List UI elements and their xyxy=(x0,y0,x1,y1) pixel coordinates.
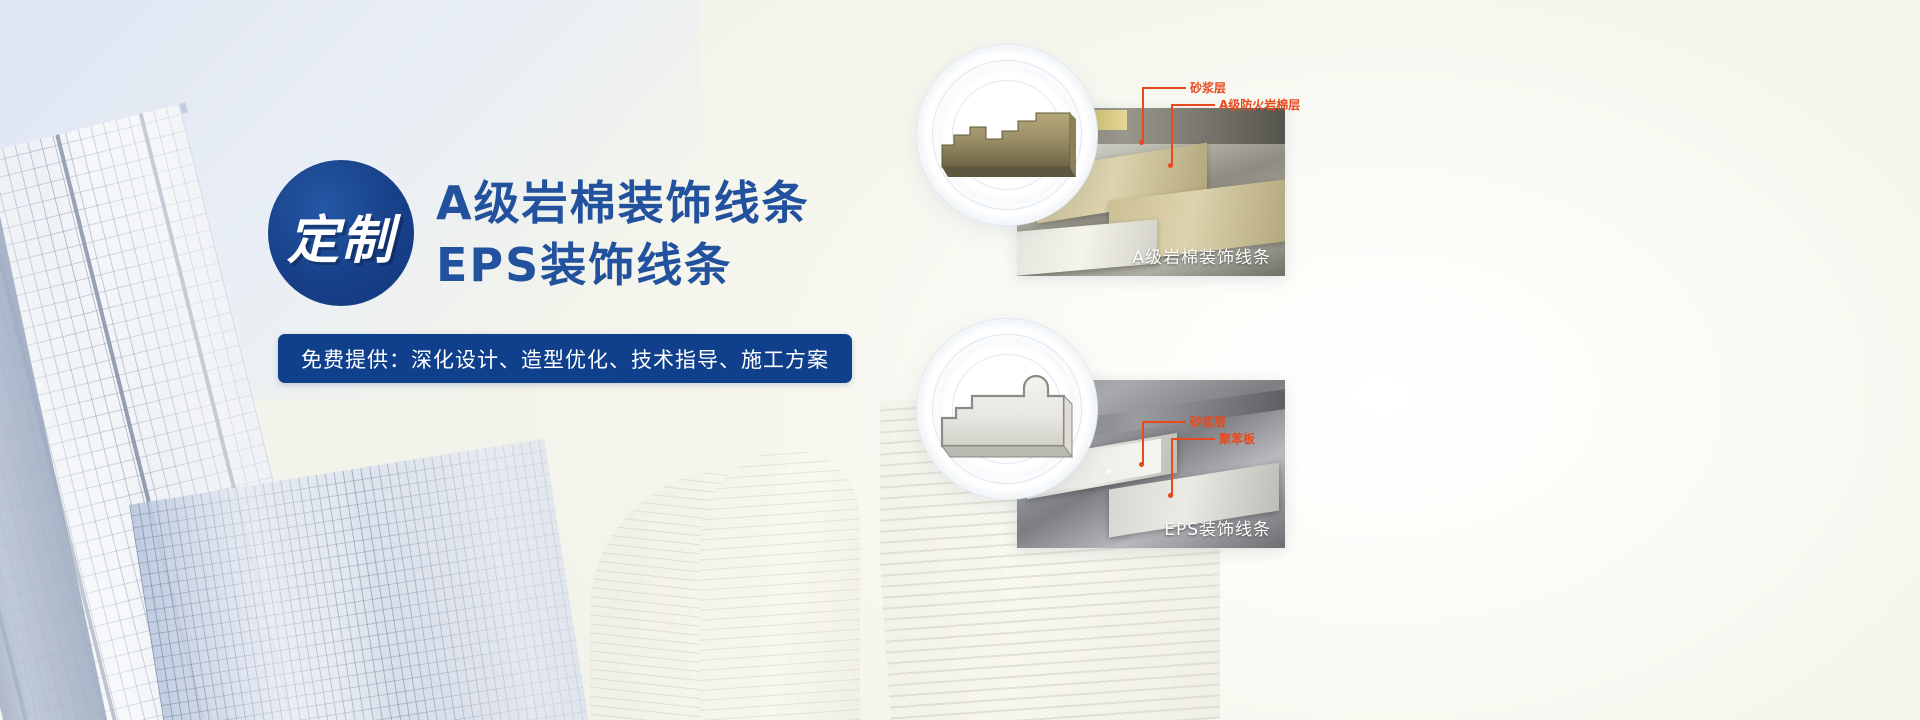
building-roof-cap xyxy=(0,83,188,195)
promo-bar: 免费提供：深化设计、造型优化、技术指导、施工方案 xyxy=(278,334,852,383)
custom-badge: 定制 xyxy=(268,160,414,306)
leader-line-eps-1-h xyxy=(1142,421,1186,423)
building-photo-left-lower xyxy=(129,439,591,720)
building-tower-secondary xyxy=(129,439,591,720)
rockwool-profile-shape xyxy=(940,105,1140,195)
promo-bar-text: 免费提供：深化设计、造型优化、技术指导、施工方案 xyxy=(301,344,829,374)
leader-dot-rw-2 xyxy=(1168,163,1173,168)
custom-badge-label: 定制 xyxy=(268,162,414,308)
leader-dot-rw-1 xyxy=(1139,140,1144,145)
callout-label-eps-board: 聚苯板 xyxy=(1219,430,1255,447)
building-floor-lines-2 xyxy=(700,450,860,720)
leader-line-eps-2-v xyxy=(1171,438,1173,496)
leader-line-eps-2-h xyxy=(1171,438,1215,440)
promo-banner: 定制 A级岩棉装饰线条 EPS装饰线条 免费提供：深化设计、造型优化、技术指导、… xyxy=(0,0,1920,720)
leader-line-rw-1-h xyxy=(1142,87,1186,89)
building-ridge xyxy=(0,170,115,720)
headline-block: A级岩棉装饰线条 EPS装饰线条 xyxy=(436,172,956,296)
leader-line-rw-1-v xyxy=(1142,87,1144,143)
callout-label-eps-mortar: 砂浆层 xyxy=(1190,413,1226,430)
building-curved-tower xyxy=(590,470,820,720)
product-caption-eps: EPS装饰线条 xyxy=(1150,509,1285,548)
building-curved-tower-2 xyxy=(700,450,860,720)
building-floor-lines xyxy=(590,470,820,720)
building-sheen-secondary xyxy=(129,439,591,720)
headline-line-2: EPS装饰线条 xyxy=(436,234,956,296)
leader-dot-eps-2 xyxy=(1168,493,1173,498)
headline-line-1: A级岩棉装饰线条 xyxy=(436,172,956,234)
leader-line-rw-2-v xyxy=(1171,104,1173,166)
leader-line-rw-2-h xyxy=(1171,104,1215,106)
eps-profile-shape xyxy=(938,372,1138,468)
building-glass-grid-secondary xyxy=(129,439,591,720)
product-caption-rockwool: A级岩棉装饰线条 xyxy=(1118,237,1285,276)
leader-dot-eps-1 xyxy=(1139,462,1144,467)
leader-line-eps-1-v xyxy=(1142,421,1144,465)
building-photo-center xyxy=(560,430,990,720)
callout-label-rw-rockwool: A级防火岩棉层 xyxy=(1219,96,1300,113)
callout-label-rw-mortar: 砂浆层 xyxy=(1190,79,1226,96)
